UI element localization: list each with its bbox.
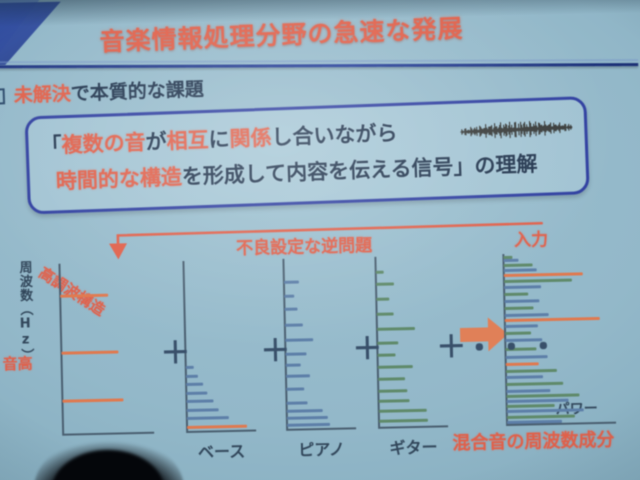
spectrum-bar — [505, 325, 538, 329]
spectrum-bar — [503, 259, 518, 262]
plus-operator: ＋ — [260, 337, 291, 368]
spectrum-bar — [285, 323, 303, 326]
spectrum-bar — [284, 281, 299, 284]
panel-label-bass: ベース — [181, 437, 262, 463]
frequency-axis-label: 周波数（Hz） — [14, 260, 35, 362]
spectrum-bar — [507, 404, 555, 408]
projection-surface: 音楽情報処理分野の急速な発展 未解決で本質的な課題 「複数の音が相互に関係し合い… — [0, 0, 640, 480]
quote-run: に — [208, 127, 230, 152]
spectrum-bar — [504, 306, 533, 310]
mixture-label: 混合音の周波数成分 — [452, 426, 615, 456]
spectrum-bar — [62, 398, 123, 402]
slide-photograph: 音楽情報処理分野の急速な発展 未解決で本質的な課題 「複数の音が相互に関係し合い… — [0, 0, 640, 480]
spectrum-bar — [506, 376, 543, 380]
spectrum-bar — [378, 377, 405, 381]
spectrum-panel-bass — [182, 260, 256, 431]
spectrum-bar — [505, 317, 600, 322]
pitch-label: 音高 — [2, 352, 32, 374]
spectrum-bar — [186, 400, 213, 404]
bullet-text: 未解決で本質的な課題 — [13, 74, 204, 107]
spectrum-bar — [506, 382, 563, 386]
spectrum-bar — [504, 264, 533, 268]
spectrum-bar — [60, 293, 108, 297]
panel-x-axis — [186, 429, 256, 432]
spectrum-bar — [504, 273, 583, 278]
spectrum-bar — [504, 278, 572, 282]
quote-run: が — [145, 129, 167, 154]
spectrum-bar — [379, 419, 428, 423]
spectrum-bar — [507, 414, 575, 418]
spectrum-bar — [377, 327, 415, 331]
spectrum-bar — [377, 313, 394, 316]
panel-label-guitar: ギター — [373, 433, 454, 459]
spectrum-bar — [378, 399, 409, 403]
spectrum-bar — [376, 270, 384, 273]
panel-label-piano: ピアノ — [281, 435, 362, 461]
bullet-item: 未解決で本質的な課題 — [0, 68, 409, 109]
bullet-rest: で本質的な課題 — [70, 78, 204, 105]
quote-run: を形成して内容を伝える信号」の理解 — [181, 152, 537, 189]
spectrum-panel-harmonic-structure — [58, 262, 154, 434]
spectrum-panel-piano — [282, 257, 356, 428]
spectrum-bar — [187, 425, 247, 429]
spectrum-bar — [505, 313, 549, 317]
spectrum-bar — [287, 401, 308, 404]
inverse-problem-label: 不良設定な逆問題 — [236, 231, 373, 259]
spectrum-bar — [506, 389, 550, 393]
quote-box: 「複数の音が相互に関係し合いながら 時間的な構造を形成して内容を伝える信号」の理… — [25, 96, 590, 215]
spectrum-bar — [507, 409, 584, 414]
ellipsis-operator: ・・・ — [464, 333, 561, 365]
quote-run: 時間的な構造 — [56, 165, 183, 194]
spectrum-bar — [379, 409, 427, 413]
plus-operator: ＋ — [436, 333, 467, 364]
spectrum-bar — [287, 416, 328, 420]
spectrum-bar — [286, 374, 310, 378]
panel-x-axis — [62, 432, 154, 436]
square-bullet-icon — [0, 88, 5, 105]
spectrum-bar — [287, 409, 323, 413]
panel-x-axis — [286, 427, 356, 430]
panel-y-axis — [58, 264, 63, 434]
audio-waveform-icon — [460, 117, 573, 142]
spectrum-bar — [286, 388, 304, 391]
quote-run: 関係 — [229, 126, 272, 152]
spectrum-bar — [378, 365, 413, 369]
spectrum-bar — [376, 297, 389, 300]
spectrum-bar — [287, 423, 330, 427]
spectrum-bar — [504, 293, 528, 297]
plus-operator: ＋ — [352, 335, 383, 366]
spectrum-bar — [284, 294, 294, 297]
spectrum-bar — [506, 394, 579, 399]
spectrum-bar — [376, 282, 394, 285]
quote-line-1: 「複数の音が相互に関係し合いながら — [40, 117, 398, 160]
bullet-highlight: 未解決 — [13, 83, 71, 107]
title-rule — [0, 63, 638, 68]
slide-content: 音楽情報処理分野の急速な発展 未解決で本質的な課題 「複数の音が相互に関係し合い… — [0, 0, 640, 480]
spectrum-bar — [503, 256, 512, 259]
spectrum-bar — [187, 408, 219, 412]
quote-run: し合いながら — [271, 121, 398, 150]
plus-operator: ＋ — [160, 339, 191, 370]
spectrum-bar — [506, 369, 557, 373]
corner-decoration — [0, 2, 62, 66]
spectrum-bar — [186, 391, 207, 394]
spectrum-bar — [186, 383, 203, 386]
spectrum-bar — [504, 299, 539, 303]
quote-run: 相互 — [166, 128, 209, 154]
spectrum-bar — [186, 375, 198, 378]
spectrum-bar — [507, 399, 569, 403]
panel-x-axis — [378, 425, 448, 428]
page-title: 音楽情報処理分野の急速な発展 — [99, 5, 570, 59]
quote-run: 複数の音 — [61, 130, 146, 157]
spectrum-bar — [187, 416, 229, 420]
spectrum-bar — [504, 269, 537, 273]
spectrum-bar — [504, 286, 541, 290]
spectrum-bar — [61, 351, 118, 355]
quote-run: 「 — [40, 133, 62, 158]
spectrum-bar — [378, 389, 407, 393]
input-label: 入力 — [514, 225, 549, 251]
spectrum-bar — [284, 308, 297, 311]
